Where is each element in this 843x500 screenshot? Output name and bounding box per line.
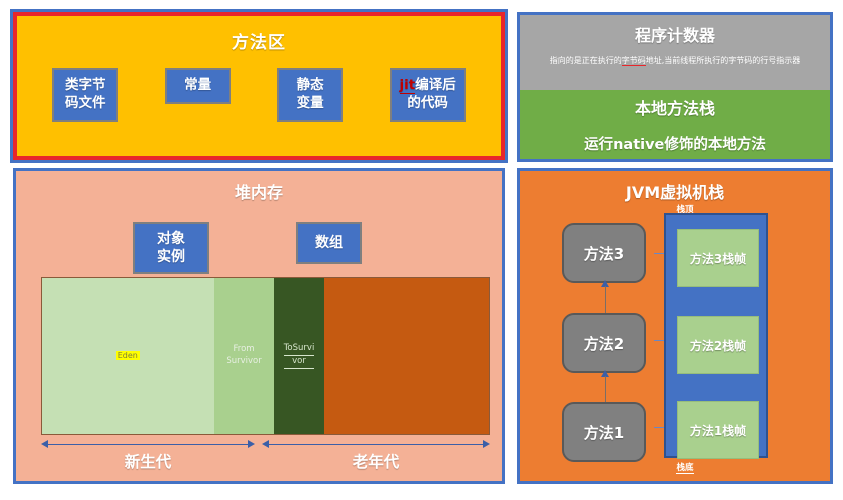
arrow-head-right-icon: [483, 440, 490, 448]
region-label-group: Eden: [116, 350, 140, 363]
pc-desc-part1: 指向的是正在执行的: [550, 56, 622, 65]
tag-line-2: 实例: [145, 248, 197, 266]
method-node-1: 方法1: [562, 402, 646, 462]
program-counter-title: 程序计数器: [520, 15, 830, 46]
method-area-title: 方法区: [17, 16, 501, 53]
jit-keyword: jit: [400, 77, 416, 94]
tag-line-1: 对象: [145, 230, 197, 248]
method-node-3: 方法3: [562, 223, 646, 283]
arrow-line: [605, 286, 606, 313]
stack-frame-3: 方法3栈帧: [677, 229, 759, 287]
stack-bottom-text: 栈底: [676, 463, 693, 474]
heap-tag-object-instance: 对象 实例: [133, 222, 209, 274]
native-method-stack-subtitle: 运行native修饰的本地方法: [520, 119, 830, 154]
method-area-box-static-variable: 静态 变量: [277, 68, 343, 122]
method-frame-connector: [654, 340, 664, 341]
method-area-box-class-bytecode: 类字节 码文件: [52, 68, 118, 122]
method-area-box-jit-compiled-code: jit编译后 的代码: [390, 68, 466, 122]
stack-frame-1: 方法1栈帧: [677, 401, 759, 459]
box-line-2: 码文件: [62, 95, 108, 113]
jvm-stack-title: JVM虚拟机栈: [520, 171, 830, 203]
stack-frame-container: 方法3栈帧 方法2栈帧 方法1栈帧: [664, 213, 768, 458]
to-survivor-label-line2: vor: [284, 356, 315, 369]
from-survivor-label-line1: From: [226, 344, 261, 356]
heap-tag-array: 数组: [296, 222, 362, 264]
program-counter-panel: 程序计数器 指向的是正在执行的字节码地址,当前线程所执行的字节码的行号指示器: [517, 12, 833, 90]
box-line-1-text: 编译后: [415, 77, 456, 93]
to-survivor-label-line1: ToSurvi: [284, 343, 315, 356]
box-line-2: 的代码: [400, 95, 456, 113]
method-call-chain: 方法3 方法2 方法1: [562, 223, 642, 458]
old-generation-span-arrow: [262, 440, 490, 449]
stack-frame-2: 方法2栈帧: [677, 316, 759, 374]
box-line-1: 类字节: [62, 77, 108, 95]
young-generation-span-arrow: [41, 440, 255, 449]
young-generation-label: 新生代: [41, 450, 255, 472]
heap-region-bar: Eden From Survivor ToSurvi vor: [41, 277, 490, 435]
arrow-head-right-icon: [248, 440, 255, 448]
method-frame-connector: [654, 427, 664, 428]
arrow-line: [268, 444, 484, 445]
method-chain-arrow-up-icon: [601, 370, 610, 402]
box-line-1: jit编译后: [400, 77, 456, 95]
method-area-box-constant: 常量: [165, 68, 231, 104]
program-counter-description: 指向的是正在执行的字节码地址,当前线程所执行的字节码的行号指示器: [520, 46, 830, 67]
jvm-memory-diagram: 方法区 类字节 码文件 常量 静态 变量 jit编译后 的代码 程序计数器 指向…: [0, 0, 843, 500]
heap-region-old-generation: [324, 278, 489, 434]
pc-desc-part2: 地址,当前线程所执行的字节码的行号指示器: [646, 56, 801, 65]
box-line-2: 变量: [287, 95, 333, 113]
method-chain-arrow-up-icon: [601, 280, 610, 313]
native-method-stack-title: 本地方法栈: [520, 90, 830, 119]
eden-label: Eden: [116, 351, 140, 360]
pc-desc-underlined: 字节码: [622, 56, 646, 66]
native-method-stack-panel: 本地方法栈 运行native修饰的本地方法: [517, 90, 833, 162]
old-generation-label: 老年代: [262, 450, 490, 472]
box-line-1: 常量: [175, 77, 221, 95]
heap-title: 堆内存: [16, 171, 502, 203]
stack-bottom-label: 栈底: [655, 461, 715, 473]
region-label-group: From Survivor: [226, 344, 261, 368]
heap-region-eden: Eden: [42, 278, 214, 434]
method-area-box-list: 类字节 码文件 常量 静态 变量 jit编译后 的代码: [17, 68, 501, 122]
heap-region-from-survivor: From Survivor: [214, 278, 275, 434]
method-node-2: 方法2: [562, 313, 646, 373]
box-line-1: 静态: [287, 77, 333, 95]
tag-line-1: 数组: [315, 234, 343, 252]
region-label-group: ToSurvi vor: [284, 343, 315, 369]
arrow-line: [605, 376, 606, 402]
from-survivor-label-line2: Survivor: [226, 356, 261, 368]
method-frame-connector: [654, 253, 664, 254]
method-area-panel: 方法区 类字节 码文件 常量 静态 变量 jit编译后 的代码: [13, 12, 505, 160]
heap-region-to-survivor: ToSurvi vor: [274, 278, 323, 434]
arrow-line: [47, 444, 249, 445]
